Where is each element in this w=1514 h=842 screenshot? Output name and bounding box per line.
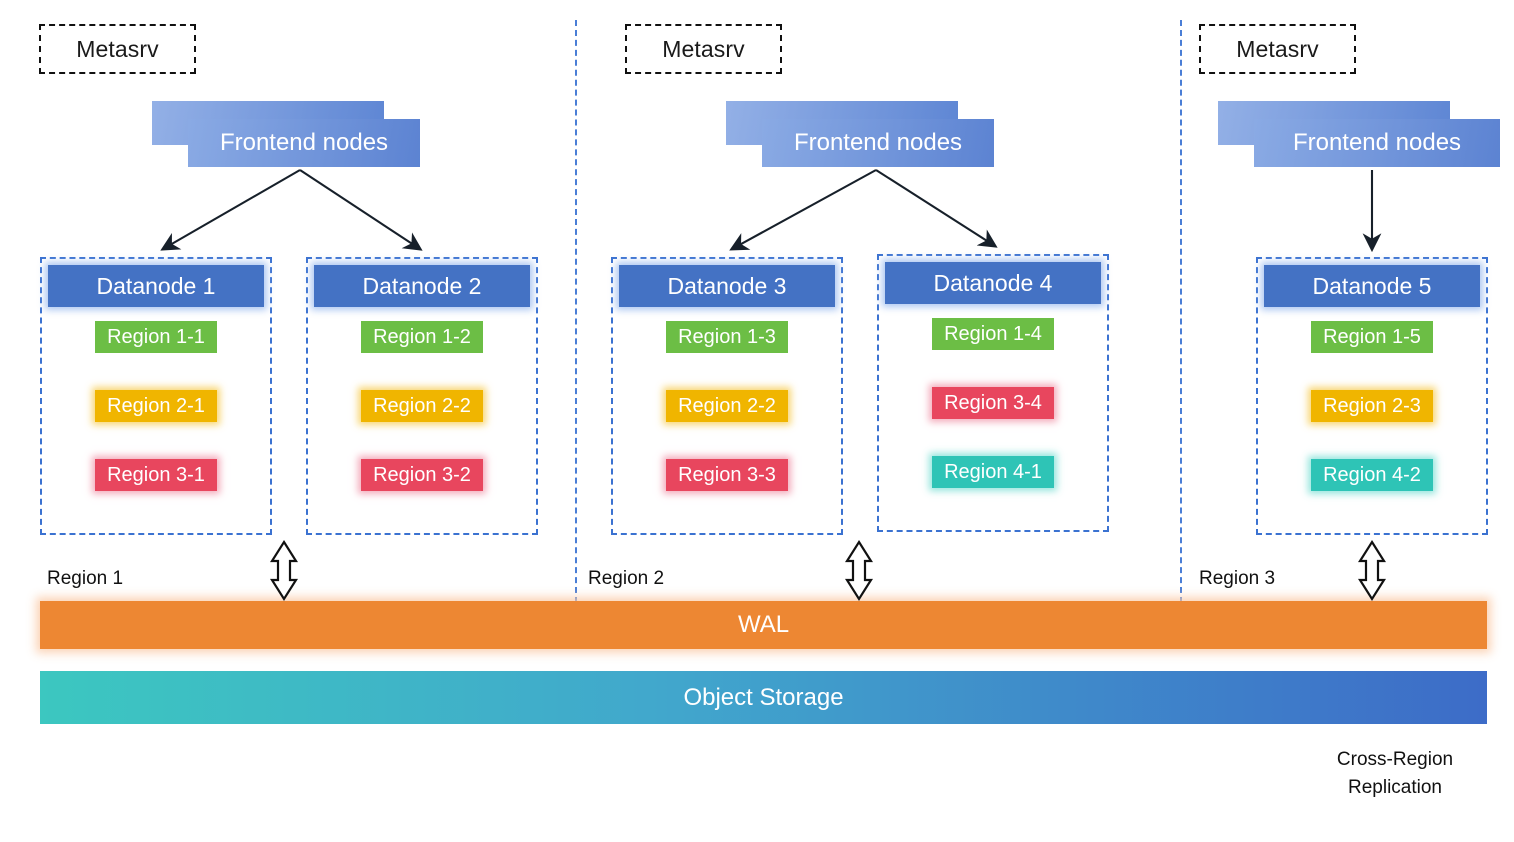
frontend-nodes-label: Frontend nodes	[1293, 129, 1461, 157]
zone-label-1: Region 1	[47, 568, 123, 590]
datanode-header-5: Datanode 5	[1264, 265, 1480, 307]
wal-sync-arrow-zone-1	[272, 542, 296, 599]
region-chip[interactable]: Region 1-1	[95, 321, 217, 353]
datanode-header-4: Datanode 4	[885, 262, 1101, 304]
arrow-frontend1-to-datanode2	[300, 170, 420, 249]
region-chip[interactable]: Region 4-1	[932, 456, 1054, 488]
region-chip[interactable]: Region 3-1	[95, 459, 217, 491]
region-chip[interactable]: Region 1-3	[666, 321, 788, 353]
metasrv-label: Metasrv	[76, 36, 159, 63]
region-chip[interactable]: Region 3-3	[666, 459, 788, 491]
frontend-card-front: Frontend nodes	[762, 119, 994, 167]
datanode-header-2: Datanode 2	[314, 265, 530, 307]
object-storage-label: Object Storage	[683, 684, 843, 712]
metasrv-box-zone-2[interactable]: Metasrv	[625, 24, 782, 74]
replication-line-1: Cross-Region	[1300, 746, 1490, 774]
frontend-nodes-label: Frontend nodes	[794, 129, 962, 157]
datanode-name: Datanode 5	[1313, 273, 1432, 300]
arrow-frontend1-to-datanode1	[163, 170, 300, 249]
region-chip[interactable]: Region 3-2	[361, 459, 483, 491]
wal-sync-arrow-zone-2	[847, 542, 871, 599]
frontend-nodes-zone-2[interactable]: Frontend nodes	[726, 101, 998, 169]
region-chip[interactable]: Region 1-4	[932, 318, 1054, 350]
datanode-name: Datanode 3	[668, 273, 787, 300]
wal-bar[interactable]: WAL	[40, 601, 1487, 649]
datanode-header-3: Datanode 3	[619, 265, 835, 307]
region-chip[interactable]: Region 1-2	[361, 321, 483, 353]
arrow-frontend2-to-datanode3	[732, 170, 876, 249]
frontend-nodes-zone-3[interactable]: Frontend nodes	[1218, 101, 1490, 169]
region-list-2: Region 1-2 Region 2-2 Region 3-2	[308, 321, 536, 528]
datanode-container-2[interactable]: Datanode 2 Region 1-2 Region 2-2 Region …	[306, 257, 538, 535]
object-storage-bar[interactable]: Object Storage	[40, 671, 1487, 724]
datanode-name: Datanode 4	[934, 270, 1053, 297]
region-chip[interactable]: Region 1-5	[1311, 321, 1433, 353]
metasrv-label: Metasrv	[1236, 36, 1319, 63]
zone-divider-2	[1180, 20, 1182, 603]
region-chip[interactable]: Region 2-2	[666, 390, 788, 422]
frontend-nodes-label: Frontend nodes	[220, 129, 388, 157]
metasrv-label: Metasrv	[662, 36, 745, 63]
wal-label: WAL	[738, 611, 789, 639]
metasrv-box-zone-1[interactable]: Metasrv	[39, 24, 196, 74]
region-chip[interactable]: Region 4-2	[1311, 459, 1433, 491]
zone-label-2: Region 2	[588, 568, 664, 590]
zone-label-3: Region 3	[1199, 568, 1275, 590]
region-chip[interactable]: Region 2-2	[361, 390, 483, 422]
wal-sync-arrow-zone-3	[1360, 542, 1384, 599]
metasrv-box-zone-3[interactable]: Metasrv	[1199, 24, 1356, 74]
datanode-name: Datanode 2	[363, 273, 482, 300]
frontend-card-front: Frontend nodes	[1254, 119, 1500, 167]
frontend-card-front: Frontend nodes	[188, 119, 420, 167]
datanode-container-1[interactable]: Datanode 1 Region 1-1 Region 2-1 Region …	[40, 257, 272, 535]
region-list-4: Region 1-4 Region 3-4 Region 4-1	[879, 318, 1107, 525]
region-list-3: Region 1-3 Region 2-2 Region 3-3	[613, 321, 841, 528]
datanode-container-4[interactable]: Datanode 4 Region 1-4 Region 3-4 Region …	[877, 254, 1109, 532]
architecture-diagram: Metasrv Frontend nodes Datanode 1 Region…	[0, 0, 1514, 842]
region-list-5: Region 1-5 Region 2-3 Region 4-2	[1258, 321, 1486, 528]
datanode-name: Datanode 1	[97, 273, 216, 300]
region-chip[interactable]: Region 3-4	[932, 387, 1054, 419]
datanode-container-5[interactable]: Datanode 5 Region 1-5 Region 2-3 Region …	[1256, 257, 1488, 535]
region-chip[interactable]: Region 2-1	[95, 390, 217, 422]
datanode-header-1: Datanode 1	[48, 265, 264, 307]
arrow-frontend2-to-datanode4	[876, 170, 995, 246]
zone-divider-1	[575, 20, 577, 603]
frontend-nodes-zone-1[interactable]: Frontend nodes	[152, 101, 424, 169]
region-list-1: Region 1-1 Region 2-1 Region 3-1	[42, 321, 270, 528]
cross-region-replication-note: Cross-Region Replication	[1300, 746, 1490, 801]
replication-line-2: Replication	[1300, 774, 1490, 802]
region-chip[interactable]: Region 2-3	[1311, 390, 1433, 422]
datanode-container-3[interactable]: Datanode 3 Region 1-3 Region 2-2 Region …	[611, 257, 843, 535]
